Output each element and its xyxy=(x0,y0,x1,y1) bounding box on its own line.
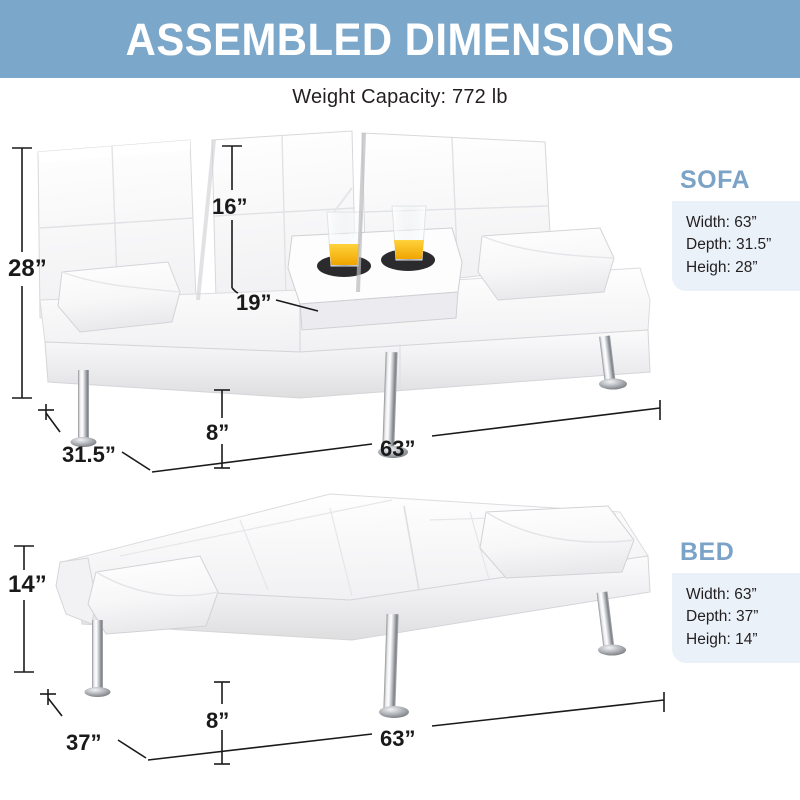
bed-title: BED xyxy=(672,540,800,565)
sofa-spec-panel: Width: 63” Depth: 31.5” Heigh: 28” xyxy=(672,201,800,291)
bed-spec-panel: Width: 63” Depth: 37” Heigh: 14” xyxy=(672,573,800,663)
sofa-armrest-pillow-right xyxy=(478,228,614,300)
sofa-height-label: 28” xyxy=(8,255,47,282)
juice-right xyxy=(394,240,424,259)
sofa-backrest-gap xyxy=(196,140,216,300)
sofa-title: SOFA xyxy=(672,168,800,193)
bed-spec-height: Heigh: 14” xyxy=(686,629,800,651)
bed-leg-height-label: 8” xyxy=(206,708,229,733)
bed-leg-right xyxy=(597,591,626,655)
sofa-armrest-pillow-left xyxy=(58,262,180,332)
sofa-spec-width: Width: 63” xyxy=(686,212,800,234)
bed-spec-depth: Depth: 37” xyxy=(686,606,800,628)
infographic-page: ASSEMBLED DIMENSIONS Weight Capacity: 77… xyxy=(0,0,800,800)
sofa-backrest-label: 16” xyxy=(212,194,247,219)
sofa-spec-depth: Depth: 31.5” xyxy=(686,234,800,256)
sofa-leg-height-label: 8” xyxy=(206,420,229,445)
bed-side-panel-left xyxy=(56,558,96,624)
bed-spec-width: Width: 63” xyxy=(686,584,800,606)
furniture-illustration: 28” 16” 19” 31.5” 8” 63” xyxy=(0,0,800,800)
bed-illustration: 14” 37” 8” 63” xyxy=(8,494,664,764)
sofa-spec-height: Heigh: 28” xyxy=(686,257,800,279)
juice-left xyxy=(329,244,360,265)
bed-height-label: 14” xyxy=(8,571,47,598)
sofa-seat-depth-label: 19” xyxy=(236,290,271,315)
bed-spec-block: BED Width: 63” Depth: 37” Heigh: 14” xyxy=(672,540,800,663)
sofa-width-label: 63” xyxy=(380,436,415,461)
tray-top xyxy=(288,228,462,304)
bed-width-label: 63” xyxy=(380,726,415,751)
sofa-illustration: 28” 16” 19” 31.5” 8” 63” xyxy=(8,131,660,472)
bed-depth-label: 37” xyxy=(66,730,101,755)
sofa-spec-block: SOFA Width: 63” Depth: 31.5” Heigh: 28” xyxy=(672,168,800,291)
sofa-depth-label: 31.5” xyxy=(62,442,116,467)
